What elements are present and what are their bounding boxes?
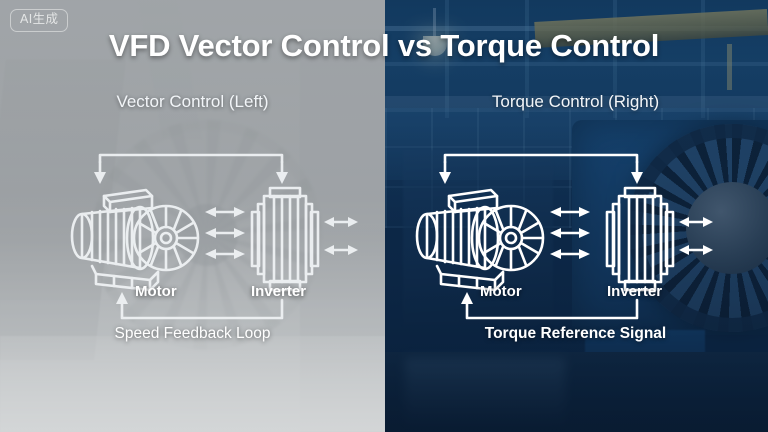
feedback-loop-line — [122, 300, 282, 318]
torque-reference-arrowhead — [461, 292, 473, 304]
left-motor-label: Motor — [135, 283, 177, 300]
motor-shaft — [506, 233, 516, 243]
top-bracket-line — [100, 155, 282, 162]
inverter-core — [264, 196, 306, 282]
right-inverter-label: Inverter — [607, 283, 662, 300]
top-bracket-line — [445, 155, 637, 162]
motor-illustration — [72, 190, 198, 290]
left-panel-subtitle: Vector Control (Left) — [0, 92, 385, 112]
output-arrows — [324, 217, 358, 255]
right-panel-caption: Torque Reference Signal — [383, 325, 768, 343]
top-arrow-right-head — [631, 172, 643, 184]
torque-reference-line — [467, 300, 637, 318]
motor-illustration — [417, 190, 543, 290]
page-title: VFD Vector Control vs Torque Control — [0, 28, 768, 64]
feedback-loop-arrowhead — [116, 292, 128, 304]
top-arrow-left-head — [94, 172, 106, 184]
top-arrow-left-head — [439, 172, 451, 184]
infographic-canvas: AI生成 VFD Vector Control vs Torque Contro… — [0, 0, 768, 432]
top-arrow-right-head — [276, 172, 288, 184]
motor-shaft — [161, 233, 171, 243]
vector-control-diagram — [0, 0, 385, 432]
motor-fan-hub — [500, 227, 522, 249]
left-inverter-label: Inverter — [251, 283, 306, 300]
inverter-illustration — [252, 188, 318, 290]
signal-arrows-motor-inverter — [205, 207, 245, 259]
motor-fan-hub — [155, 227, 177, 249]
right-motor-label: Motor — [480, 283, 522, 300]
torque-control-diagram — [385, 0, 768, 432]
inverter-side-plate-right — [666, 212, 673, 266]
inverter-side-plate-left — [607, 212, 614, 266]
inverter-core — [619, 196, 661, 282]
motor-base-top — [92, 266, 158, 280]
motor-terminal-box-edge — [449, 196, 497, 202]
motor-terminal-box-edge — [104, 196, 152, 202]
inverter-side-plate-right — [311, 212, 318, 266]
output-arrows — [679, 217, 713, 255]
left-panel-caption: Speed Feedback Loop — [0, 325, 385, 343]
right-panel-subtitle: Torque Control (Right) — [383, 92, 768, 112]
motor-base-top — [437, 266, 503, 280]
inverter-illustration — [607, 188, 673, 290]
signal-arrows-motor-inverter — [550, 207, 590, 259]
ai-generated-badge: AI生成 — [10, 9, 68, 32]
inverter-side-plate-left — [252, 212, 259, 266]
